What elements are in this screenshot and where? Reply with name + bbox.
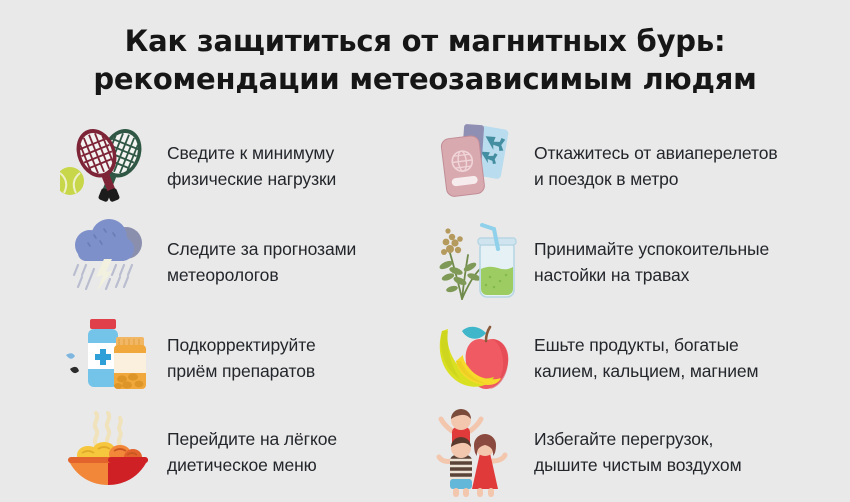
page-title: Как защититься от магнитных бурь: рекоме… [0, 22, 850, 98]
tip-eat-potassium-rich-food: Ешьте продукты, богатые калием, кальцием… [430, 310, 850, 406]
tip-label: Ешьте продукты, богатые калием, кальцием… [534, 332, 759, 384]
diet-bowl-icon [60, 407, 156, 497]
tip-avoid-overload-fresh-air: Избегайте перегрузок, дышите чистым возд… [430, 406, 850, 498]
herbal-drink-icon [430, 217, 526, 307]
medicine-bottles-icon [60, 313, 156, 403]
tip-label: Перейдите на лёгкое диетическое меню [167, 426, 337, 478]
tip-label: Избегайте перегрузок, дышите чистым возд… [534, 426, 742, 478]
tip-light-diet-menu: Перейдите на лёгкое диетическое меню [60, 406, 430, 498]
infographic-poster: Как защититься от магнитных бурь: рекоме… [0, 0, 850, 502]
tip-label: Принимайте успокоительные настойки на тр… [534, 236, 769, 288]
tip-label: Сведите к минимуму физические нагрузки [167, 140, 336, 192]
tip-reduce-physical-activity: Сведите к минимуму физические нагрузки [60, 118, 430, 214]
tennis-rackets-icon [60, 121, 156, 211]
title-line-1: Как защититься от магнитных бурь: [0, 22, 850, 60]
tip-watch-weather-forecast: Следите за прогнозами метеорологов [60, 214, 430, 310]
title-line-2: рекомендации метеозависимым людям [0, 60, 850, 98]
tip-avoid-flights-metro: Откажитесь от авиаперелетов и поездок в … [430, 118, 850, 214]
rain-cloud-icon [60, 217, 156, 307]
children-icon [430, 407, 526, 497]
tip-label: Подкорректируйте приём препаратов [167, 332, 316, 384]
tips-grid: Сведите к минимуму физические нагрузки [0, 118, 850, 502]
tip-label: Откажитесь от авиаперелетов и поездок в … [534, 140, 778, 192]
passport-tickets-icon [430, 121, 526, 211]
tip-herbal-sedatives: Принимайте успокоительные настойки на тр… [430, 214, 850, 310]
fruits-icon [430, 313, 526, 403]
tip-adjust-medication: Подкорректируйте приём препаратов [60, 310, 430, 406]
tip-label: Следите за прогнозами метеорологов [167, 236, 356, 288]
